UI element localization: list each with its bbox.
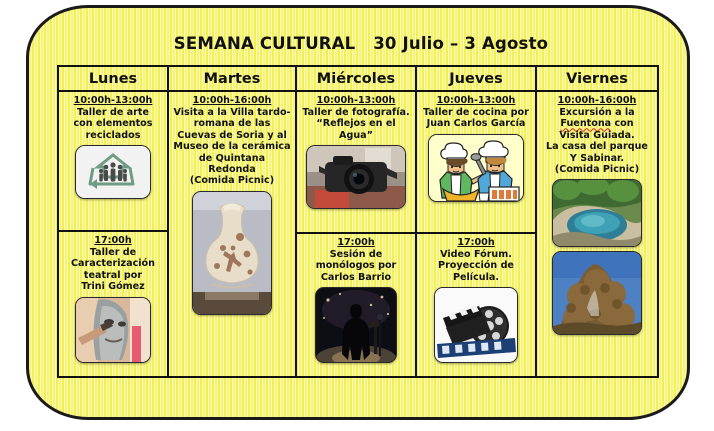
event-title-line: Taller de fotografía. <box>301 107 410 118</box>
camera-photo <box>306 145 406 209</box>
poster-canvas: SEMANA CULTURAL 30 Julio – 3 Agosto Lune… <box>0 0 714 431</box>
page-title: SEMANA CULTURAL 30 Julio – 3 Agosto <box>29 34 690 53</box>
event-title-line: teatral por <box>83 270 143 281</box>
event-title-line: (Comida Picnic) <box>189 175 275 186</box>
column-jueves: Jueves 10:00h-13:00h Taller de cocina po… <box>417 67 537 376</box>
event-title-line: de Quintana <box>198 153 266 164</box>
day-header-martes: Martes <box>169 67 295 92</box>
event-title-line: monólogos por <box>315 260 398 271</box>
fuentona-lagoon-photo <box>552 179 642 247</box>
event-title-line: Y Sabinar. <box>569 153 625 164</box>
cell-jueves-morning[interactable]: 10:00h-13:00h Taller de cocina por Juan … <box>417 92 535 234</box>
day-header-miercoles: Miércoles <box>297 67 415 92</box>
event-title-line: Museo de la cerámica <box>172 141 291 152</box>
event-time: 17:00h <box>457 237 494 249</box>
day-header-lunes: Lunes <box>59 67 167 92</box>
cell-lunes-morning[interactable]: 10:00h-13:00h Taller de arte con element… <box>59 92 167 232</box>
cell-miercoles-morning[interactable]: 10:00h-13:00h Taller de fotografía. “Ref… <box>297 92 415 234</box>
column-viernes: Viernes 10:00h-16:00h Excursión a la Fue… <box>537 67 657 376</box>
column-miercoles: Miércoles 10:00h-13:00h Taller de fotogr… <box>297 67 417 376</box>
event-title-line: Juan Carlos García <box>426 118 527 129</box>
event-title-line: Taller de <box>89 247 137 258</box>
event-title-line: Película. <box>452 272 500 283</box>
event-title-line: Visita Guiada. <box>558 130 635 141</box>
cell-jueves-afternoon[interactable]: 17:00h Video Fórum. Proyección de Pelícu… <box>417 234 535 376</box>
event-time: 10:00h-16:00h <box>558 95 637 107</box>
cell-viernes-morning[interactable]: 10:00h-16:00h Excursión a la Fuentona co… <box>537 92 657 376</box>
event-title-line: Proyección de <box>437 260 515 271</box>
event-title-line-underlined: (Comida Picnic) <box>554 164 640 175</box>
event-title-line: “Reflejos en el <box>315 118 396 129</box>
event-time: 10:00h-13:00h <box>317 95 396 107</box>
event-title-line: Taller de cocina por <box>422 107 530 118</box>
event-title-line: Cuevas de Soria y al <box>176 130 288 141</box>
event-title-line: Excursión a la <box>558 107 635 118</box>
event-title-line: Visita a la Villa tardo- <box>172 107 291 118</box>
event-title-line: reciclados <box>85 130 142 141</box>
cooking-kids-clipart <box>428 134 524 202</box>
event-title-line: Caracterización <box>70 258 156 269</box>
event-title-line: Agua” <box>338 130 374 141</box>
event-time: 10:00h-13:00h <box>74 95 153 107</box>
cell-lunes-afternoon[interactable]: 17:00h Taller de Caracterización teatral… <box>59 232 167 376</box>
event-time: 10:00h-13:00h <box>437 95 516 107</box>
cell-martes-morning[interactable]: 10:00h-16:00h Visita a la Villa tardo- r… <box>169 92 295 376</box>
event-time: 17:00h <box>337 237 374 249</box>
day-header-viernes: Viernes <box>537 67 657 92</box>
column-martes: Martes 10:00h-16:00h Visita a la Villa t… <box>169 67 297 376</box>
spellcheck-word: Fuentona <box>560 118 611 129</box>
sabinar-juniper-tree-photo <box>552 251 642 335</box>
stand-up-comedian-photo <box>315 287 397 363</box>
event-title-line: con elementos <box>73 118 154 129</box>
film-clapperboard-reel-icon <box>434 287 518 363</box>
weekly-schedule-table: Lunes 10:00h-13:00h Taller de arte con e… <box>57 65 659 378</box>
cell-miercoles-afternoon[interactable]: 17:00h Sesión de monólogos por Carlos Ba… <box>297 234 415 376</box>
event-title-line: Carlos Barrio <box>320 272 392 283</box>
event-time: 17:00h <box>94 235 131 247</box>
event-title-line: Sesión de <box>329 249 384 260</box>
event-time: 10:00h-16:00h <box>193 95 272 107</box>
event-title-line: Taller de arte <box>76 107 150 118</box>
recycling-people-icon <box>75 145 151 199</box>
theatrical-makeup-photo <box>75 297 151 363</box>
event-title-line: Video Fórum. <box>439 249 513 260</box>
event-title-line: romana de las <box>193 118 272 129</box>
event-title-line: Trini Gómez <box>80 281 146 292</box>
roman-ceramic-vase-photo <box>192 191 272 315</box>
event-title-line: La casa del parque <box>545 141 649 152</box>
event-title-line: Redonda <box>207 164 257 175</box>
poster-frame: SEMANA CULTURAL 30 Julio – 3 Agosto Lune… <box>26 5 690 420</box>
event-title-line-spellchecked: Fuentona con <box>559 118 634 129</box>
day-header-jueves: Jueves <box>417 67 535 92</box>
column-lunes: Lunes 10:00h-13:00h Taller de arte con e… <box>59 67 169 376</box>
